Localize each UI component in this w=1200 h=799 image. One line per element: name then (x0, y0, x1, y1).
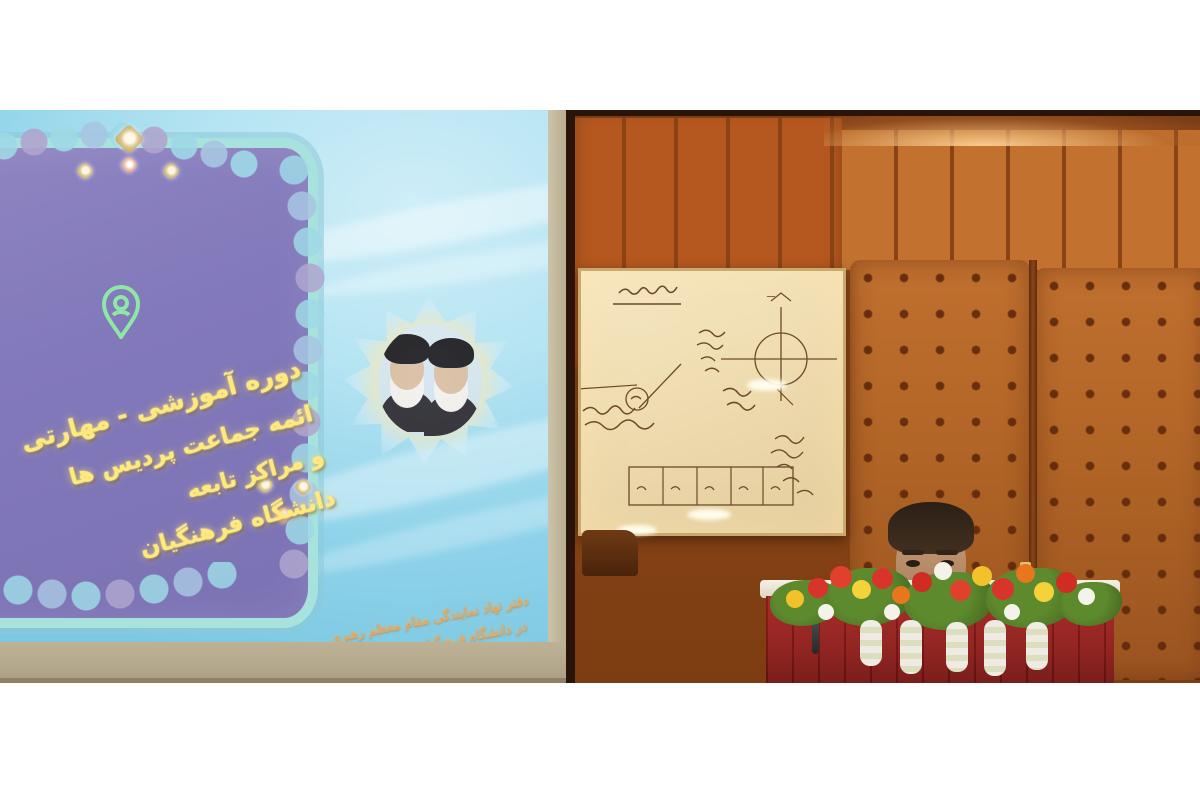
flower (992, 578, 1014, 600)
screen-frame-right (548, 110, 566, 650)
farhangian-university-logo-icon (100, 285, 142, 339)
flower (1034, 582, 1054, 602)
screenshot-root: دوره آموزشی - مهارتی ائمه جماعت پردیس ها… (0, 0, 1200, 799)
flower (786, 590, 804, 608)
light-swoosh (300, 219, 552, 307)
flower (912, 572, 932, 592)
leaders-portrait-medallion (344, 296, 514, 464)
garland (900, 620, 922, 674)
flower (884, 604, 900, 620)
flower (872, 568, 893, 589)
flower (830, 566, 852, 588)
portrait-oval (378, 324, 482, 436)
garland (860, 620, 882, 666)
whiteboard: ـــ (578, 268, 846, 536)
wood-panel-right (842, 130, 1200, 270)
conference-photograph: دوره آموزشی - مهارتی ائمه جماعت پردیس ها… (0, 110, 1200, 683)
flower (808, 578, 828, 598)
flower (852, 580, 871, 599)
garland (946, 622, 968, 672)
svg-text:ـــ: ـــ (766, 290, 775, 300)
flower (1056, 572, 1077, 593)
flower (892, 586, 910, 604)
photo-edge-top (566, 110, 1200, 116)
board-glare (687, 509, 731, 520)
flower (972, 566, 992, 586)
whiteboard-handwriting: ـــ (581, 271, 837, 527)
whiteboard-stand (582, 530, 638, 576)
wall-skirting (0, 678, 566, 683)
garland (1026, 622, 1048, 670)
room-interior: ـــ (574, 110, 1200, 683)
flower (1078, 588, 1095, 605)
board-glare (747, 379, 787, 391)
flower (818, 604, 834, 620)
flower (950, 580, 971, 601)
flower (934, 562, 952, 580)
garland (984, 620, 1006, 676)
room-photo: ـــ (566, 110, 1200, 683)
floral-arrangement (764, 528, 1124, 658)
photo-edge-left (566, 110, 575, 683)
projected-slide: دوره آموزشی - مهارتی ائمه جماعت پردیس ها… (0, 110, 552, 642)
flower (1004, 604, 1020, 620)
slide-credit-block: دفتر نهاد نمایندگی مقام معظم رهبری در دا… (315, 587, 548, 642)
flower (1016, 564, 1035, 583)
wall-below-screen (0, 642, 566, 683)
projection-wall: دوره آموزشی - مهارتی ائمه جماعت پردیس ها… (0, 110, 566, 683)
